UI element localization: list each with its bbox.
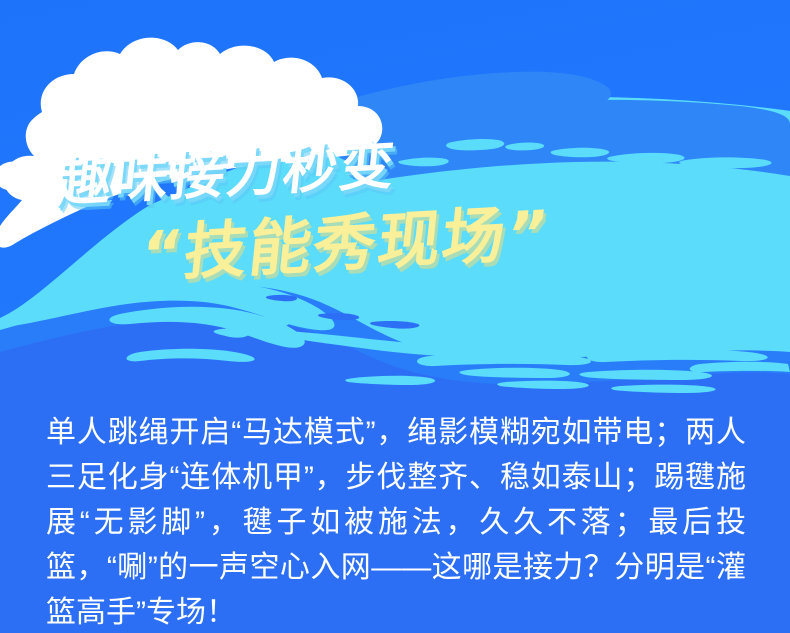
body-copy-block: 单人跳绳开启“马达模式”，绳影模糊宛如带电；两人三足化身“连体机甲”，步伐整齐、… xyxy=(46,410,746,633)
body-paragraph: 单人跳绳开启“马达模式”，绳影模糊宛如带电；两人三足化身“连体机甲”，步伐整齐、… xyxy=(46,410,746,633)
poster-canvas: 趣味接力秒变 “技能秀现场” 单人跳绳开启“马达模式”，绳影模糊宛如带电；两人三… xyxy=(0,0,790,633)
